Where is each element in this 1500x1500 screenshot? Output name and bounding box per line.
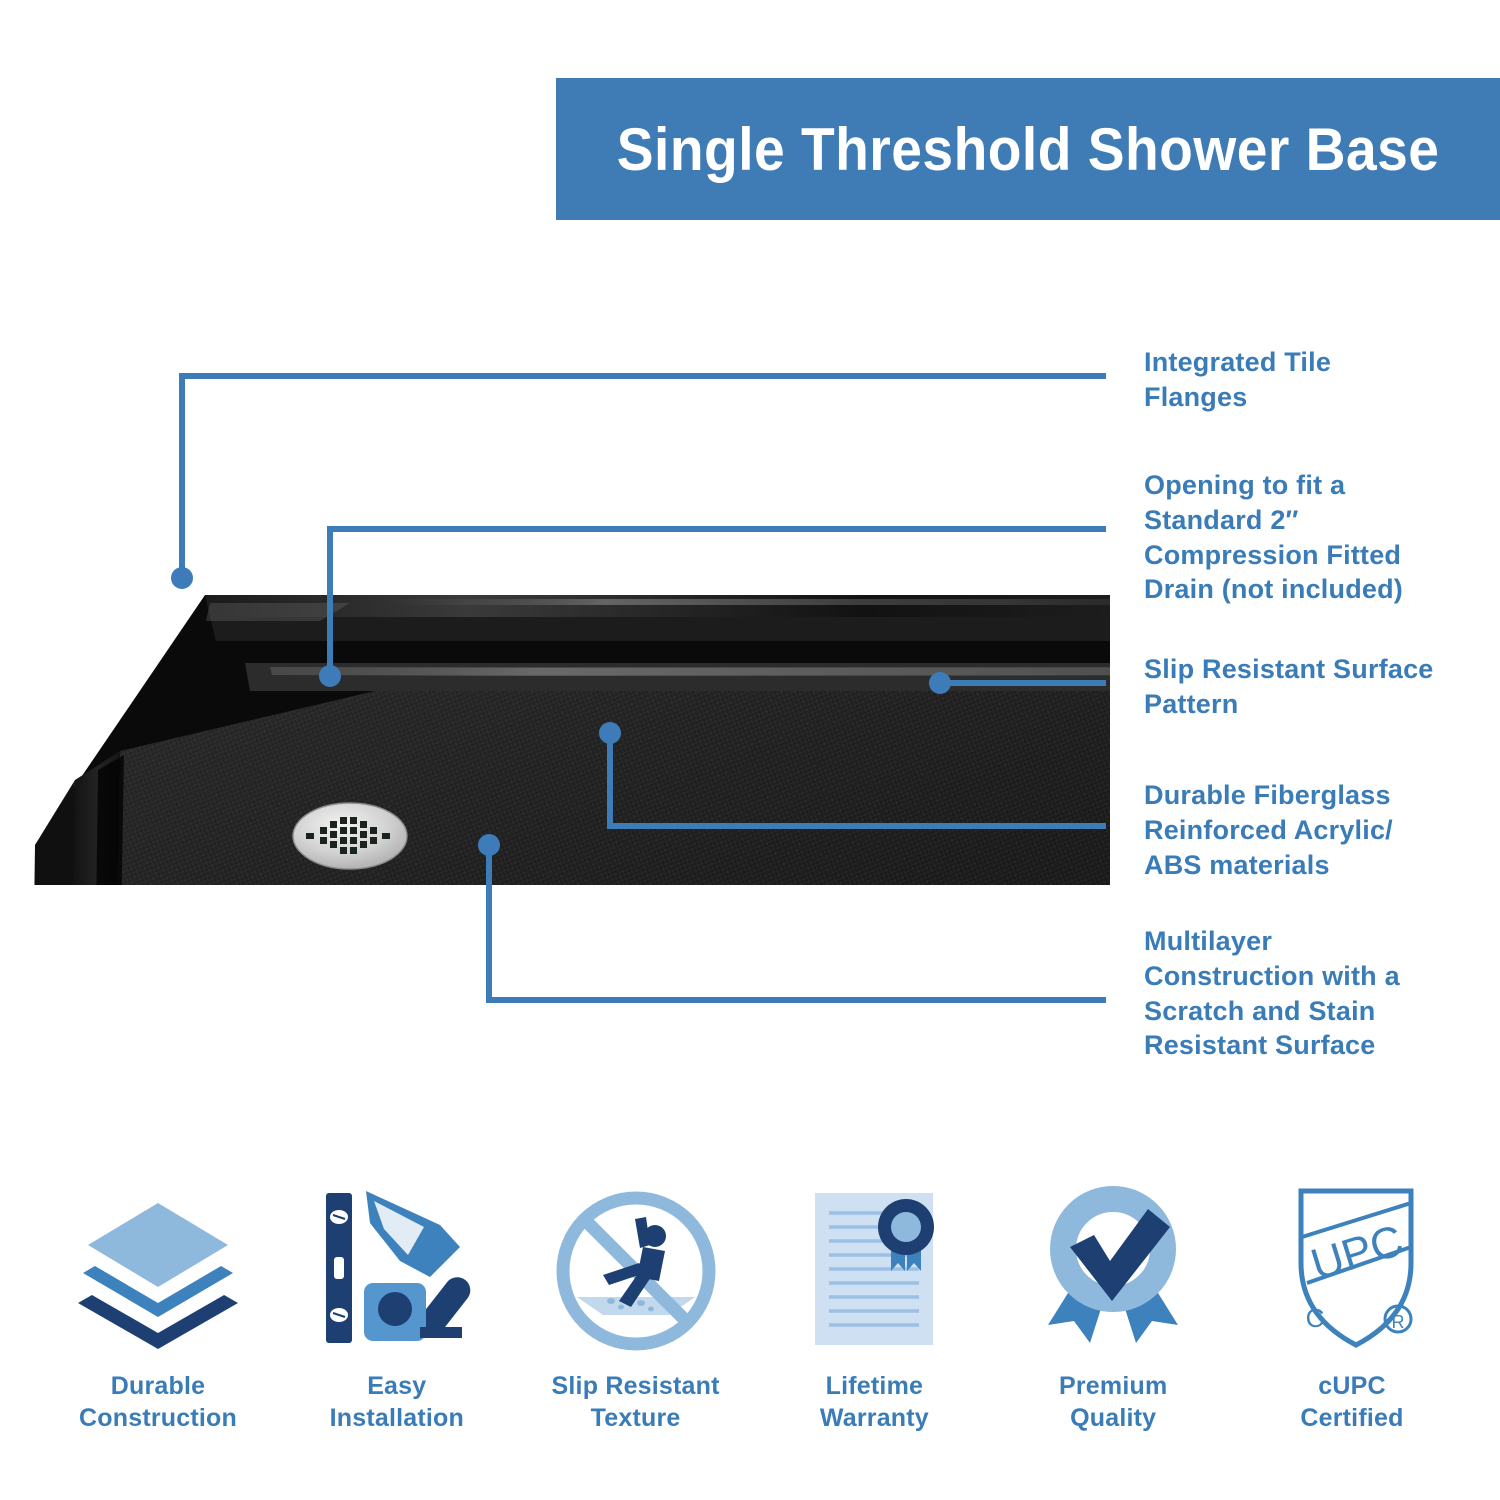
page-title: Single Threshold Shower Base <box>617 115 1440 184</box>
infographic-page: Single Threshold Shower Base <box>0 0 1500 1500</box>
no-slip-icon <box>551 1185 721 1357</box>
basin-floor-texture <box>110 691 1110 885</box>
feature-cupc-certified: UPC C R cUPC Certified <box>1234 1185 1470 1434</box>
upc-text: UPC <box>1305 1216 1408 1290</box>
feature-caption-slip-resistant: Slip Resistant Texture <box>552 1371 720 1434</box>
layers-icon <box>73 1185 243 1357</box>
certificate-icon <box>789 1185 959 1357</box>
tools-icon <box>312 1185 482 1357</box>
caption-line-1: Premium <box>1059 1372 1167 1400</box>
callout-label-tile-flanges: Integrated Tile Flanges <box>1144 345 1434 415</box>
caption-line-2: Texture <box>591 1404 681 1432</box>
feature-caption-cupc-certified: cUPC Certified <box>1300 1371 1403 1434</box>
caption-line-2: Certified <box>1300 1404 1403 1432</box>
caption-line-2: Installation <box>330 1404 464 1432</box>
feature-slip-resistant: Slip Resistant Texture <box>518 1185 754 1434</box>
feature-caption-durable-construction: Durable Construction <box>79 1371 237 1434</box>
falling-person-arm <box>635 1217 650 1248</box>
header-banner: Single Threshold Shower Base <box>556 78 1500 220</box>
feature-durable-construction: Durable Construction <box>40 1185 276 1434</box>
feature-badges-row: Durable Construction <box>40 1185 1470 1455</box>
tile-flange-top-band-2 <box>210 617 1110 641</box>
svg-text:R: R <box>1391 1312 1404 1332</box>
caption-line-2: Construction <box>79 1404 237 1432</box>
feature-easy-installation: Easy Installation <box>279 1185 515 1434</box>
upc-left-mark: C <box>1306 1303 1325 1333</box>
caption-line-1: Slip Resistant <box>552 1372 720 1400</box>
callout-label-slip-resistant: Slip Resistant Surface Pattern <box>1144 652 1434 722</box>
feature-caption-premium-quality: Premium Quality <box>1059 1371 1167 1434</box>
callout-label-multilayer: Multilayer Construction with a Scratch a… <box>1144 924 1434 1063</box>
tape-blade <box>420 1327 462 1338</box>
inner-gloss <box>270 667 1110 675</box>
level-vial <box>334 1257 344 1279</box>
caption-line-1: cUPC <box>1318 1372 1386 1400</box>
left-outer-face <box>28 780 75 885</box>
feature-caption-easy-installation: Easy Installation <box>330 1371 464 1434</box>
seal-inner <box>891 1212 921 1242</box>
feature-premium-quality: Premium Quality <box>995 1185 1231 1434</box>
tape-measure-hub <box>378 1292 412 1326</box>
caption-line-2: Warranty <box>820 1404 929 1432</box>
callout-label-drain-opening: Opening to fit a Standard 2″ Compression… <box>1144 468 1434 607</box>
product-image <box>20 555 1110 885</box>
connector-tile-flanges <box>182 376 1103 578</box>
feature-caption-lifetime-warranty: Lifetime Warranty <box>820 1371 929 1434</box>
caption-line-1: Lifetime <box>826 1372 923 1400</box>
drain-assembly <box>293 803 407 869</box>
feature-lifetime-warranty: Lifetime Warranty <box>756 1185 992 1434</box>
upc-shield-icon: UPC C R <box>1267 1185 1437 1357</box>
caption-line-1: Durable <box>111 1372 205 1400</box>
caption-line-1: Easy <box>367 1372 426 1400</box>
callout-label-fiberglass: Durable Fiberglass Reinforced Acrylic/ A… <box>1144 778 1434 882</box>
check-ribbon-icon <box>1028 1185 1198 1357</box>
rim-gloss-long <box>380 599 1110 605</box>
caption-line-2: Quality <box>1070 1404 1156 1432</box>
